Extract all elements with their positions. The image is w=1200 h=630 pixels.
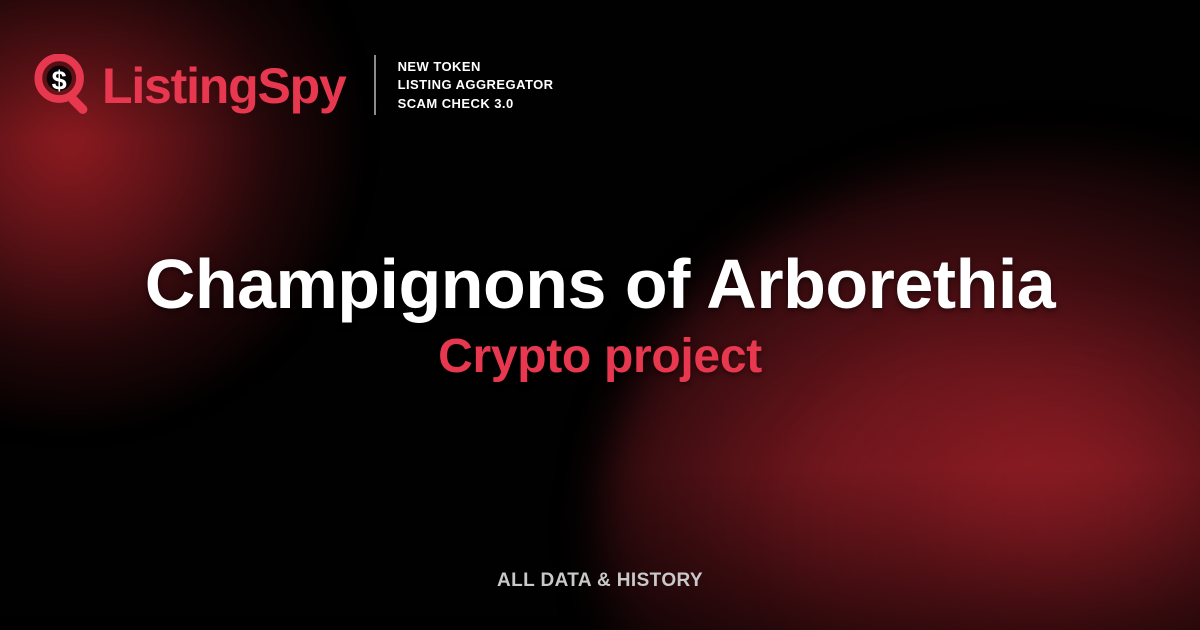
promo-card: $ ListingSpy NEW TOKEN LISTING AGGREGATO… [0,0,1200,630]
brand-tagline: NEW TOKEN LISTING AGGREGATOR SCAM CHECK … [398,59,554,111]
brand-wordmark: ListingSpy [102,61,346,111]
headline-block: Champignons of Arborethia Crypto project [0,248,1200,384]
header-divider [374,55,376,115]
svg-text:$: $ [52,64,67,95]
tagline-line-2: LISTING AGGREGATOR [398,77,554,92]
tagline-line-1: NEW TOKEN [398,59,554,74]
page-title: Champignons of Arborethia [0,248,1200,321]
tagline-line-3: SCAM CHECK 3.0 [398,96,554,111]
footer-block: ALL DATA & HISTORY [0,570,1200,592]
footer-caption: ALL DATA & HISTORY [497,570,703,591]
page-subtitle: Crypto project [0,331,1200,384]
background-glow-right [600,150,1200,630]
magnifier-dollar-icon: $ [34,54,96,116]
brand-header: $ ListingSpy NEW TOKEN LISTING AGGREGATO… [34,54,554,116]
